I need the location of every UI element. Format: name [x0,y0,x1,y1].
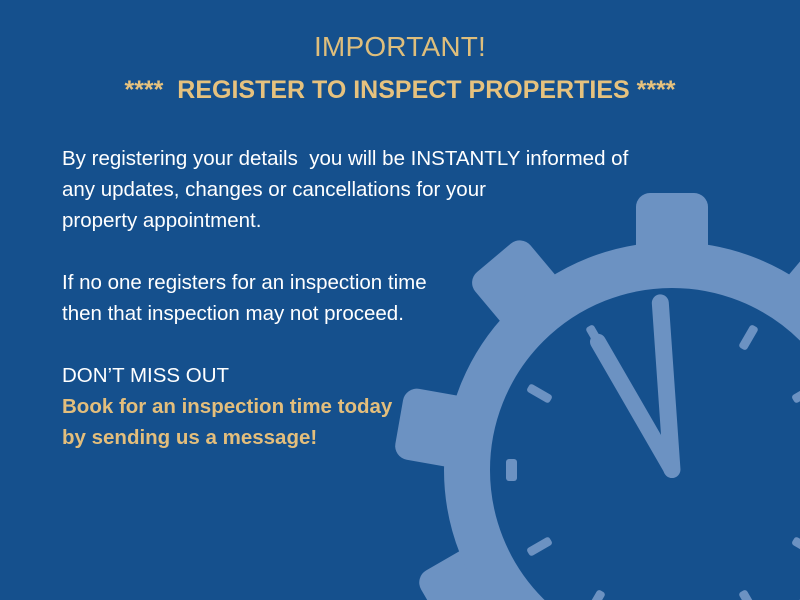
body-line: If no one registers for an inspection ti… [62,267,722,298]
paragraph-call-to-action: DON’T MISS OUT Book for an inspection ti… [62,360,722,453]
cta-book-inspection: Book for an inspection time today [62,391,722,422]
cta-send-message: by sending us a message! [62,422,722,453]
cta-dont-miss-out: DON’T MISS OUT [62,360,722,391]
body-line: property appointment. [62,205,722,236]
slide-body: By registering your details you will be … [62,143,722,453]
paragraph-registering-benefits: By registering your details you will be … [62,143,722,236]
paragraph-no-registration-warning: If no one registers for an inspection ti… [62,267,722,329]
body-line: any updates, changes or cancellations fo… [62,174,722,205]
promotional-slide: IMPORTANT! **** REGISTER TO INSPECT PROP… [0,0,800,600]
body-line: By registering your details you will be … [62,143,722,174]
header-title-important: IMPORTANT! [0,30,800,64]
body-line: then that inspection may not proceed. [62,298,722,329]
slide-header: IMPORTANT! **** REGISTER TO INSPECT PROP… [0,30,800,107]
header-title-register: **** REGISTER TO INSPECT PROPERTIES **** [0,73,800,107]
